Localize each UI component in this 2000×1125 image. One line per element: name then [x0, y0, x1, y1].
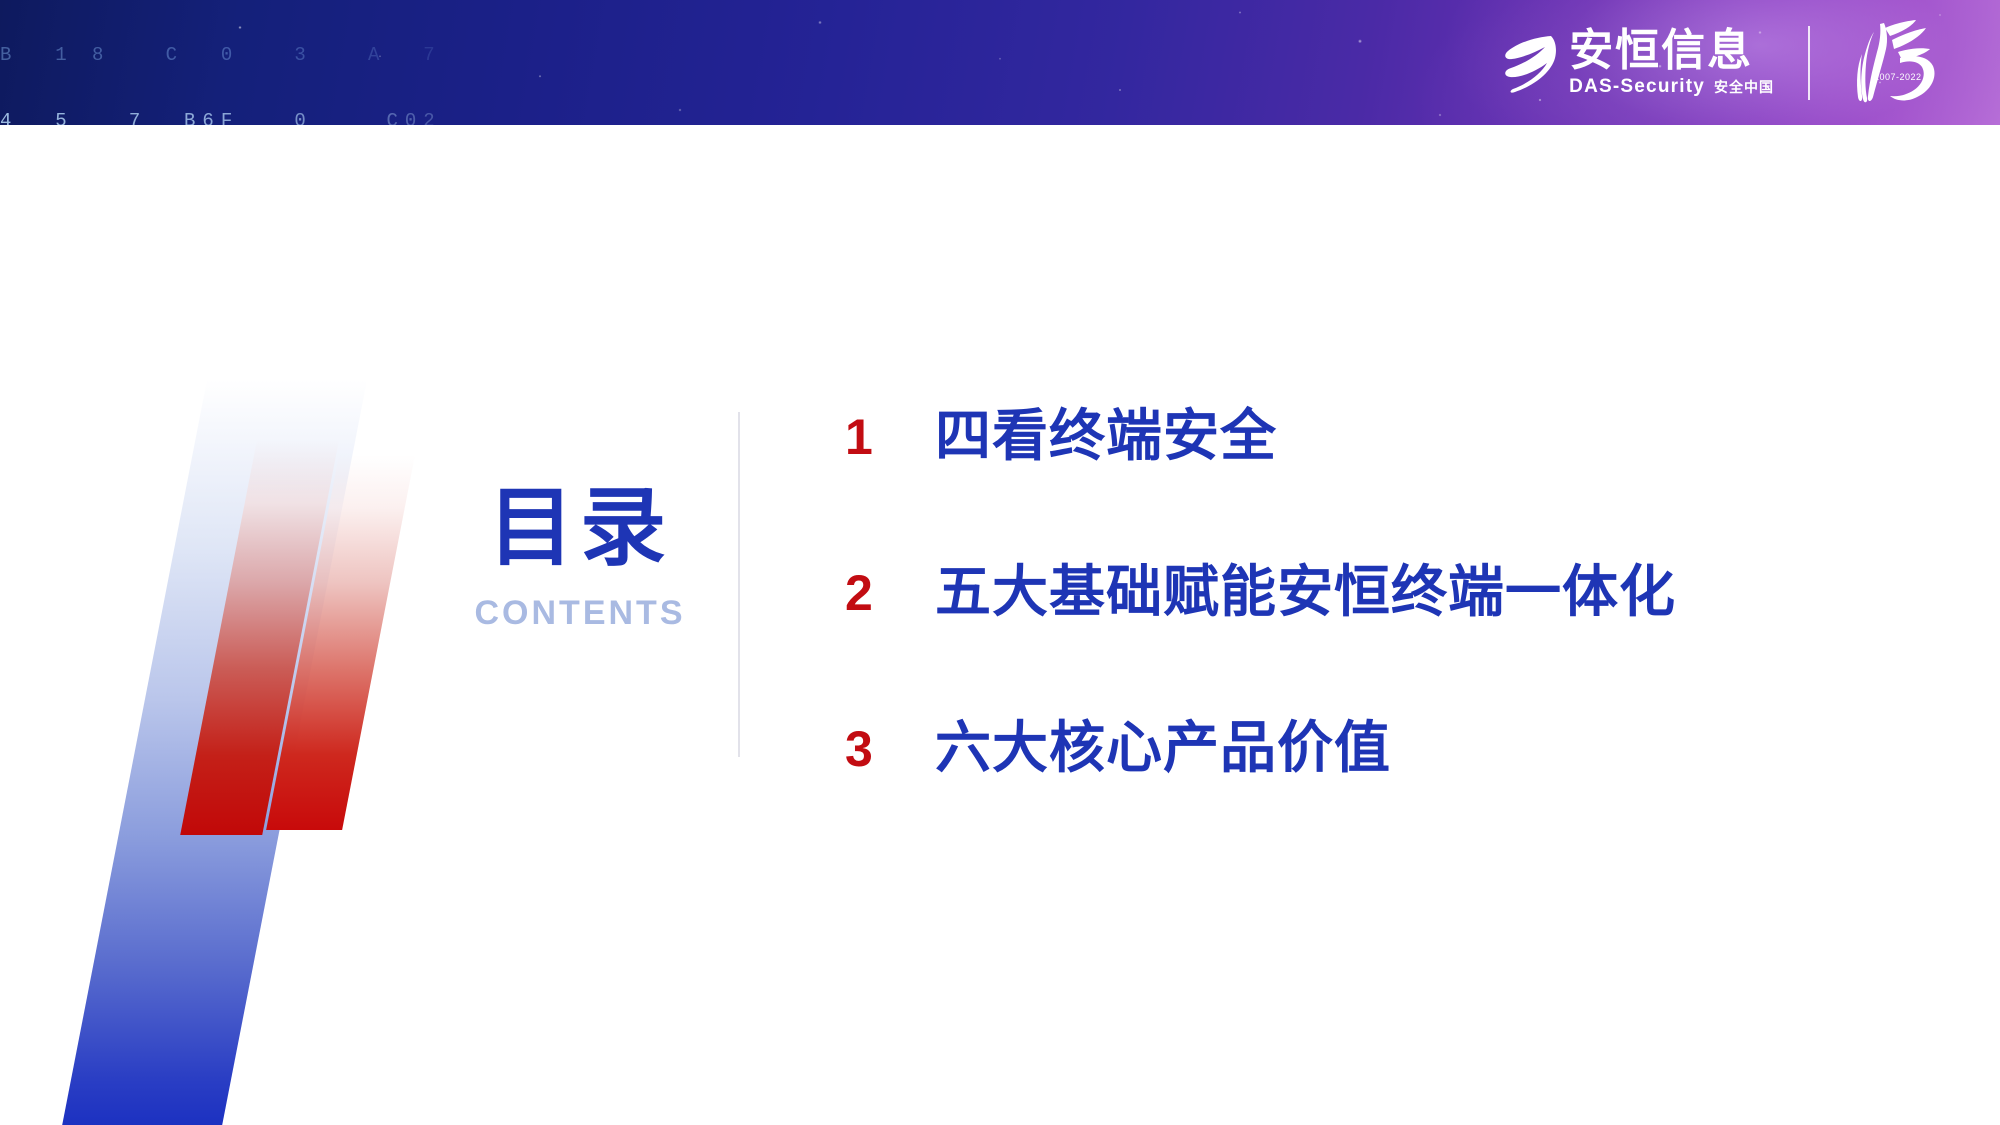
company-slogan: 安全中国: [1714, 80, 1774, 96]
toc-item-number: 1: [845, 409, 935, 465]
toc-item-number: 3: [845, 721, 935, 777]
toc-item-label: 四看终端安全: [935, 405, 1277, 469]
toc-item-1[interactable]: 1 四看终端安全: [845, 398, 1895, 476]
toc-item-label: 六大核心产品价值: [935, 717, 1391, 781]
toc-title-cn: 目录: [430, 480, 730, 576]
brand-logo-group: 安恒信息 DAS-Security 安全中国 2007-2022: [1501, 10, 1948, 115]
slide-canvas: B 1 8 C 0 3 A 7 4 5 7 B6F 0 C02 B A 8 C3…: [0, 0, 2000, 1125]
anniversary-15-icon: [1840, 18, 1948, 108]
stripe-red-outer: [266, 455, 415, 830]
logo-divider: [1808, 26, 1810, 100]
header-banner: B 1 8 C 0 3 A 7 4 5 7 B6F 0 C02 B A 8 C3…: [0, 0, 2000, 125]
toc-title-en: CONTENTS: [430, 594, 730, 632]
toc-item-2[interactable]: 2 五大基础赋能安恒终端一体化: [845, 554, 1895, 632]
toc-item-3[interactable]: 3 六大核心产品价值: [845, 710, 1895, 788]
das-security-swoosh-logo-icon: [1501, 32, 1559, 94]
toc-item-number: 2: [845, 565, 935, 621]
anniversary-years: 2007-2022: [1874, 72, 1922, 82]
toc-list: 1 四看终端安全 2 五大基础赋能安恒终端一体化 3 六大核心产品价值: [845, 398, 1895, 788]
stripe-blue: [59, 380, 367, 1125]
toc-vertical-divider: [738, 412, 740, 757]
hex-code-texture: B 1 8 C 0 3 A 7 4 5 7 B6F 0 C02 B A 8 C3…: [0, 0, 560, 125]
code-line: 4 5 7 B6F 0 C02: [0, 110, 560, 125]
stripe-red-inner: [180, 440, 339, 835]
brand-subtitle-row: DAS-Security 安全中国: [1569, 77, 1774, 97]
anniversary-badge: 2007-2022: [1840, 18, 1948, 108]
toc-heading: 目录 CONTENTS: [430, 480, 730, 632]
toc-item-label: 五大基础赋能安恒终端一体化: [935, 561, 1676, 625]
code-line: B 1 8 C 0 3 A 7: [0, 44, 560, 66]
company-name-en: DAS-Security: [1569, 77, 1705, 97]
brand-text-block: 安恒信息 DAS-Security 安全中国: [1569, 28, 1774, 98]
company-name-cn: 安恒信息: [1569, 28, 1774, 74]
